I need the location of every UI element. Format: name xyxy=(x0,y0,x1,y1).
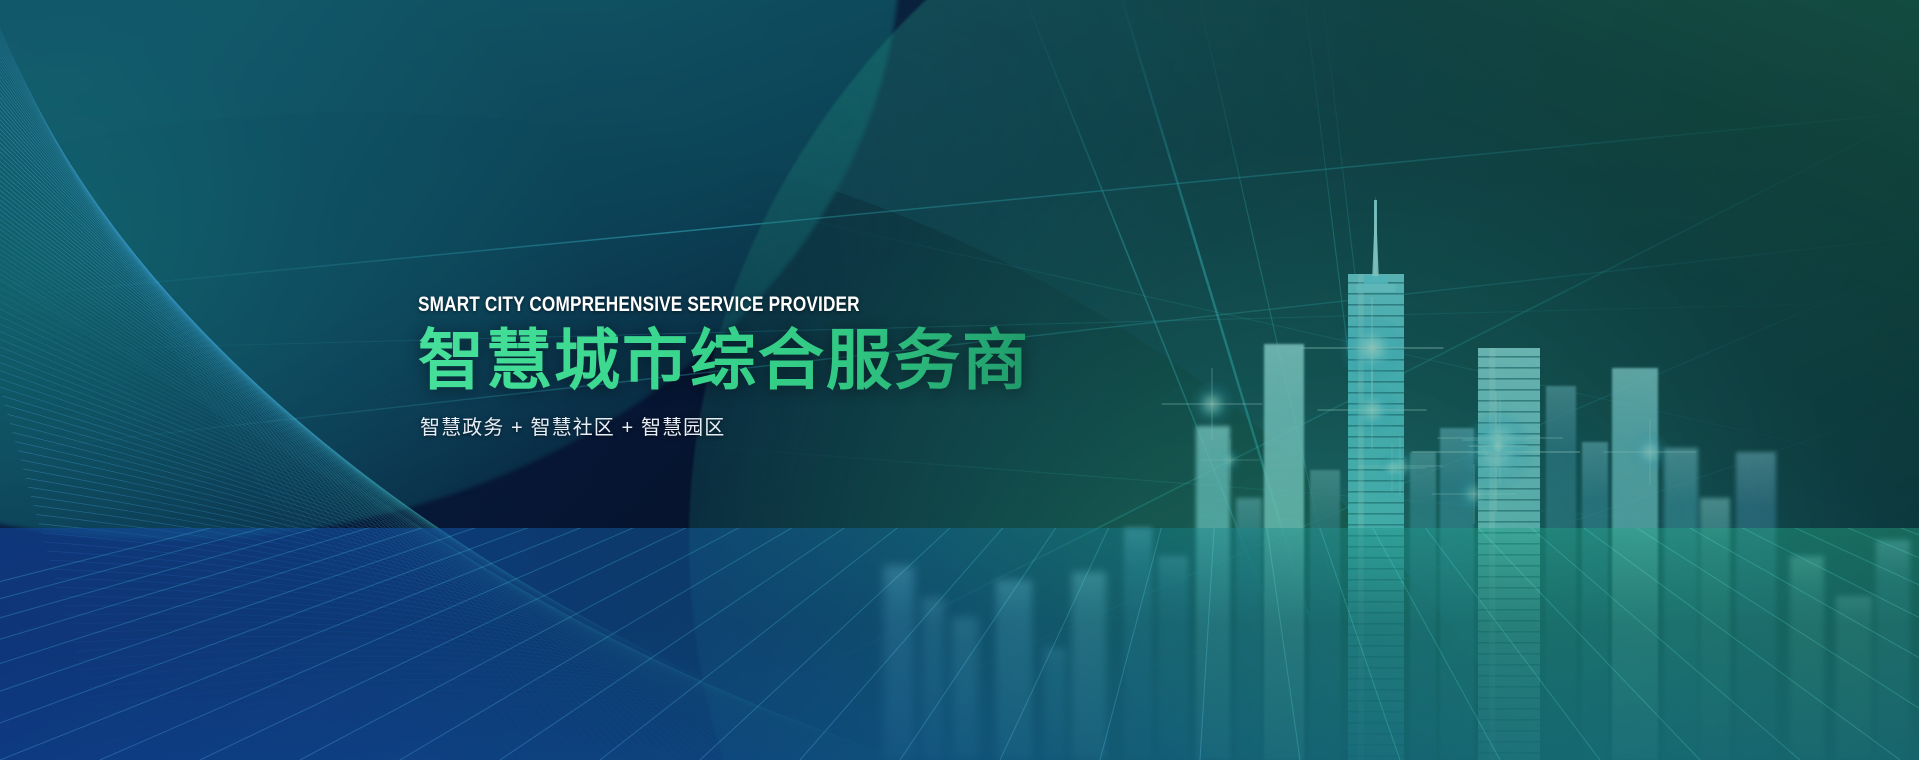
page-title: 智慧城市综合服务商 xyxy=(418,324,1178,398)
hero-copy: SMART CITY COMPREHENSIVE SERVICE PROVIDE… xyxy=(418,294,1178,440)
subtitle: 智慧政务 + 智慧社区 + 智慧园区 xyxy=(420,411,1178,440)
hero-banner: SMART CITY COMPREHENSIVE SERVICE PROVIDE… xyxy=(0,0,1919,760)
perspective-grid-icon xyxy=(0,528,1919,760)
eyebrow-tagline: SMART CITY COMPREHENSIVE SERVICE PROVIDE… xyxy=(418,294,1026,316)
